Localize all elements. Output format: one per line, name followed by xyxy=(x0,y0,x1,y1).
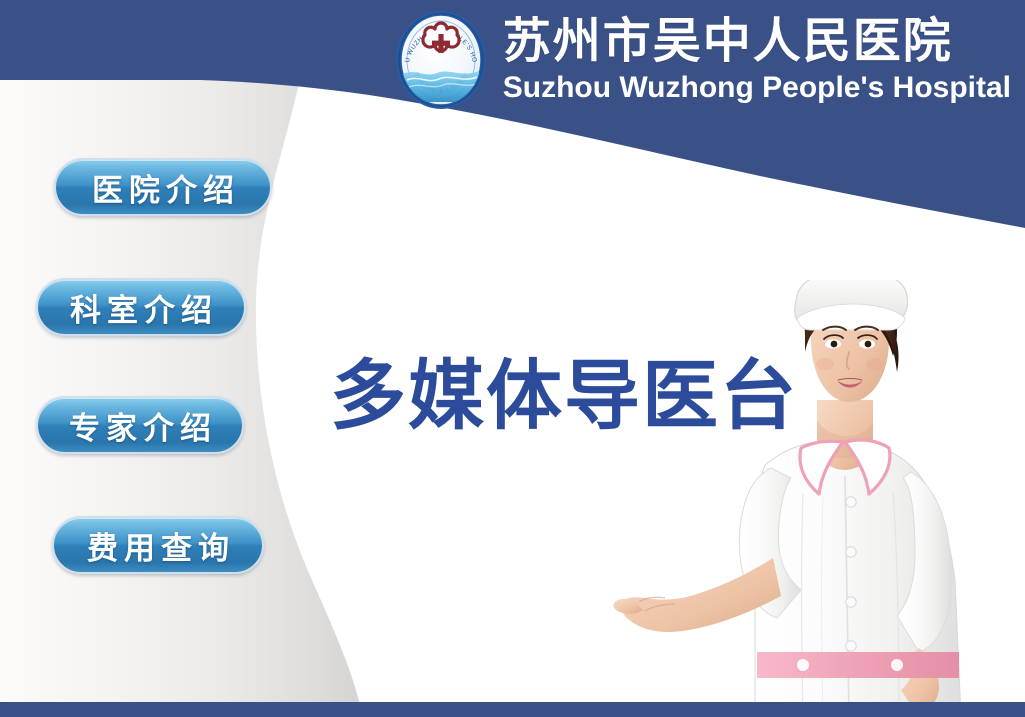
sidebar-item-label: 医院介绍 xyxy=(86,165,240,210)
sidebar-item-label: 专家介绍 xyxy=(63,403,217,448)
header-brand: SUZHOU WUZHONG PEOPLE'S HOSPITAL 苏州市吴中人民… xyxy=(0,0,1025,120)
nurse-photo xyxy=(605,280,1025,717)
sidebar-item-label: 科室介绍 xyxy=(64,285,218,330)
footer-bar xyxy=(0,702,1025,717)
sidebar-item-fee-inquiry[interactable]: 费用查询 xyxy=(52,516,264,574)
sidebar-item-label: 费用查询 xyxy=(81,523,235,568)
sidebar-item-expert-introduction[interactable]: 专家介绍 xyxy=(36,396,244,454)
sidebar-item-hospital-introduction[interactable]: 医院介绍 xyxy=(54,158,272,216)
hospital-name-cn: 苏州市吴中人民医院 xyxy=(503,17,953,65)
sidebar-item-department-introduction[interactable]: 科室介绍 xyxy=(36,278,246,336)
hospital-emblem-icon: SUZHOU WUZHONG PEOPLE'S HOSPITAL 苏州市吴中人民… xyxy=(393,10,489,110)
sidebar-menu: 医院介绍 科室介绍 专家介绍 费用查询 xyxy=(0,150,300,620)
hospital-name-en: Suzhou Wuzhong People's Hospital xyxy=(503,73,1011,103)
page-title: 多媒体导医台 xyxy=(330,358,798,434)
kiosk-screen: SUZHOU WUZHONG PEOPLE'S HOSPITAL 苏州市吴中人民… xyxy=(0,0,1025,717)
